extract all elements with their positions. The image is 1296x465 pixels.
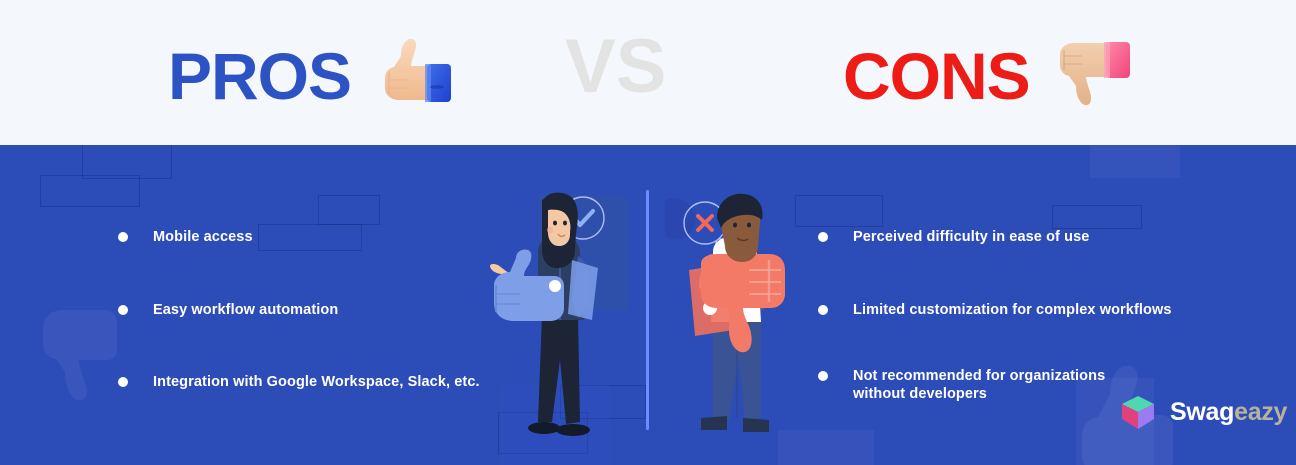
bullet-icon — [118, 232, 128, 242]
vs-heading: VS — [565, 30, 666, 104]
swageazy-cube-icon — [1118, 392, 1158, 432]
swageazy-wordmark: Swageazy — [1170, 397, 1287, 427]
logo-text-primary: Swag — [1170, 398, 1234, 426]
pros-item-label: Mobile access — [153, 228, 253, 246]
deco-rect-2 — [40, 175, 140, 207]
cons-heading-group: CONS — [843, 34, 1134, 117]
bullet-icon — [818, 371, 828, 381]
thumbs-up-emoji-icon — [367, 34, 455, 117]
swageazy-logo[interactable]: Swageazy — [1118, 392, 1287, 432]
thumbs-down-emoji-icon — [1046, 34, 1134, 117]
pros-item-label: Integration with Google Workspace, Slack… — [153, 373, 480, 391]
pros-heading: PROS — [168, 39, 351, 113]
vs-heading-group: VS — [565, 30, 666, 104]
deco-rect-1 — [82, 145, 172, 179]
deco-fill-1 — [1090, 145, 1180, 178]
pros-item-label: Easy workflow automation — [153, 301, 338, 319]
list-item[interactable]: Limited customization for complex workfl… — [818, 301, 1218, 319]
pros-heading-group: PROS — [168, 34, 455, 117]
deco-rect-3 — [318, 195, 380, 225]
logo-text-secondary: eazy — [1234, 398, 1287, 426]
pros-list: Mobile access Easy workflow automation I… — [118, 228, 518, 391]
deco-rect-6 — [1052, 205, 1142, 229]
pros-cons-infographic: PROS — [0, 0, 1296, 465]
cons-item-label: Perceived difficulty in ease of use — [853, 228, 1089, 246]
cons-heading: CONS — [843, 39, 1030, 113]
cons-list: Perceived difficulty in ease of use Limi… — [818, 228, 1218, 403]
bullet-icon — [818, 305, 828, 315]
list-item[interactable]: Integration with Google Workspace, Slack… — [118, 373, 518, 391]
cons-item-label: Limited customization for complex workfl… — [853, 301, 1172, 319]
list-item[interactable]: Mobile access — [118, 228, 518, 246]
bullet-icon — [118, 305, 128, 315]
man-holding-thumbs-down-illustration — [665, 190, 840, 465]
list-item[interactable]: Easy workflow automation — [118, 301, 518, 319]
list-item[interactable]: Perceived difficulty in ease of use — [818, 228, 1218, 246]
header-band: PROS — [0, 0, 1296, 145]
cons-item-label: Not recommended for organizations withou… — [853, 367, 1105, 403]
bullet-icon — [118, 377, 128, 387]
bullet-icon — [818, 232, 828, 242]
content-panel: Mobile access Easy workflow automation I… — [0, 145, 1296, 465]
